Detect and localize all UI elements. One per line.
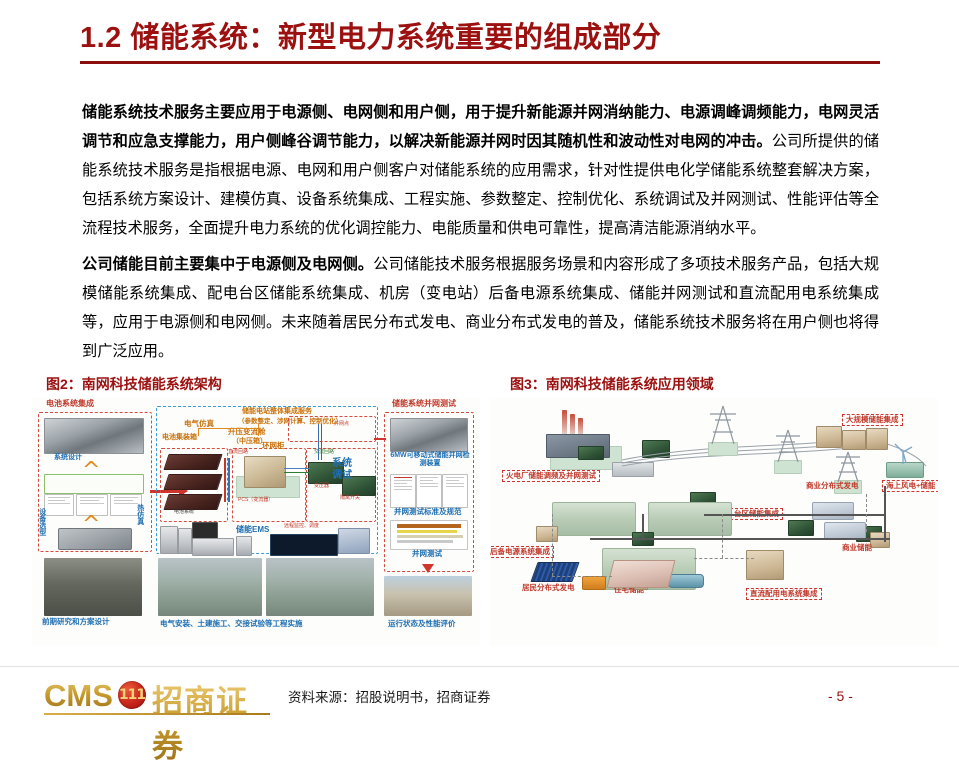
image-ems-server	[192, 538, 234, 556]
image-spec-sheet-1	[44, 494, 74, 516]
title-underline	[80, 61, 880, 64]
body-copy: 储能系统技术服务主要应用于电源侧、电网侧和用户侧，用于提升新能源并网消纳能力、电…	[82, 98, 879, 373]
label-early-research: 前期研究和方案设计	[42, 618, 110, 626]
label-test-standard: 并网测试标准及规范	[394, 508, 462, 516]
image-backup-cabinet	[536, 526, 558, 542]
figure2-caption: 图2：南网科技储能系统架构	[46, 374, 222, 394]
label-resident-dist: 居民分布式发电	[522, 584, 575, 592]
grid-dash-h1	[552, 576, 612, 577]
label-mobile-device: 6MW可移动式储能并网检测装置	[390, 452, 470, 467]
page-number: - 5 -	[828, 688, 853, 704]
image-control-room-wall	[270, 534, 338, 556]
image-battery-room-photo	[44, 558, 142, 616]
label-electrical-simulation: 电气仿真	[184, 420, 214, 428]
figure2-storage-architecture: 电池系统集成 系统设计 ^ 设备选型 ^ 热仿真 前期研究和方案设计 储能电站整…	[32, 398, 480, 646]
label-grid-test: 并网测试	[412, 550, 442, 558]
label-pcs: PCS（变流器）	[238, 498, 273, 504]
source-note: 资料来源：招股说明书，招商证券	[288, 686, 491, 706]
image-standard-doc-2	[416, 474, 442, 508]
logo-badge-icon: 111	[118, 681, 146, 709]
tower-icon-1	[706, 404, 740, 448]
label-system-debug-2: 调试	[332, 470, 352, 481]
logo-underline	[44, 713, 270, 715]
title-block: 1.2 储能系统：新型电力系统重要的组成部分	[80, 22, 880, 64]
connector-to-grid-2	[321, 424, 322, 460]
image-standard-doc-1	[390, 474, 416, 508]
image-large-storage-b	[842, 430, 866, 450]
grid-line-h2	[590, 538, 890, 540]
label-boost-converter: 升压变流舱	[228, 428, 266, 436]
image-village-block-1	[552, 502, 636, 536]
image-electric-vehicle	[668, 574, 704, 588]
tower-icon-2	[772, 428, 804, 466]
image-standard-doc-3	[442, 474, 468, 508]
image-battery-rack	[44, 418, 144, 454]
image-large-storage-a	[816, 426, 842, 448]
connector-dc-bus	[224, 458, 226, 502]
grid-dash-v1	[552, 514, 553, 576]
image-ems-cabinet-3	[236, 536, 252, 556]
image-battery-rack-c	[163, 494, 222, 510]
paragraph-1: 储能系统技术服务主要应用于电源侧、电网侧和用户侧，用于提升新能源并网消纳能力、电…	[82, 98, 879, 243]
label-commercial-storage: 商业储能	[842, 544, 872, 552]
figure3-caption: 图3：南网科技储能系统应用领域	[510, 374, 714, 394]
connector-to-grid-1	[318, 424, 319, 460]
image-bms-controller	[58, 528, 132, 550]
image-district-transformer-2	[788, 520, 814, 536]
label-dc-system: 直流配用电系统集成	[746, 588, 822, 600]
image-dc-facility	[607, 560, 676, 588]
image-solar-array	[530, 562, 579, 582]
image-site-photo-1	[158, 558, 262, 616]
logo-chinese-text: 招商证券	[152, 676, 270, 766]
connector-middle-to-right	[374, 438, 386, 440]
image-village-block-2	[648, 502, 732, 536]
label-backup-power: 后备电源系统集成	[490, 546, 554, 558]
label-thermal-plant: 火电厂储能调频及并网测试	[502, 470, 600, 482]
label-storage-ems: 储能EMS	[236, 526, 269, 535]
arrow-down-icon-1	[422, 564, 434, 573]
label-battery-container: 电池集装箱	[162, 434, 197, 442]
image-boost-converter-cabin	[244, 456, 286, 488]
label-hv-switch: 隔离开关	[340, 496, 360, 502]
label-ring-cabinet: 环网柜	[262, 442, 285, 450]
image-pcb-layout	[44, 474, 144, 494]
grid-line-v2	[642, 514, 644, 540]
grid-dash-v2	[722, 514, 723, 558]
label-remote-monitor: 远程监控、调度	[284, 524, 319, 530]
image-commercial-storage-unit	[870, 532, 890, 548]
label-commercial-dist: 商业分布式发电	[806, 482, 859, 490]
logo-latin-text: CMS	[44, 678, 113, 714]
label-grid-point: 并网点	[334, 422, 349, 428]
paragraph-2: 公司储能目前主要集中于电源侧及电网侧。公司储能技术服务根据服务场景和内容形成了多…	[82, 250, 879, 366]
paragraph-2-lead: 公司储能目前主要集中于电源侧及电网侧。	[82, 256, 373, 273]
image-mobile-test-device	[390, 418, 468, 452]
label-large-scale: 大规模储能集成	[842, 414, 903, 426]
label-station-integration: 储能电站整体集成服务	[242, 408, 312, 416]
wind-turbine-icon	[890, 440, 916, 466]
label-equipment-selection: 设备选型	[38, 508, 46, 536]
image-site-photo-2	[266, 558, 374, 616]
label-offshore-wind: 海上风电+储能	[882, 480, 938, 492]
image-plant-storage-unit	[578, 446, 604, 460]
image-commercial-building-1	[812, 502, 854, 520]
slide-root: 1.2 储能系统：新型电力系统重要的组成部分 储能系统技术服务主要应用于电源侧、…	[0, 0, 959, 719]
label-grid-test-title: 储能系统并网测试	[392, 400, 456, 409]
image-dc-building	[746, 550, 784, 580]
image-large-storage-c	[866, 428, 888, 450]
label-engineering: 电气安装、土建施工、交接试验等工程实施	[160, 620, 303, 628]
image-field-test-photo	[384, 576, 472, 616]
label-system-design: 系统设计	[54, 454, 82, 462]
connector-ac-2	[284, 472, 310, 473]
connector-sim-bus	[198, 428, 258, 429]
grid-dash-v3	[866, 494, 867, 532]
image-test-waveform	[390, 520, 468, 550]
label-operation-eval: 运行状态及性能评价	[388, 620, 456, 628]
logo-badge-text: 111	[118, 681, 146, 709]
label-system-debug-1: 系统	[332, 458, 352, 469]
grid-dash-h2	[694, 558, 754, 559]
image-operator-console	[338, 528, 370, 554]
region-grid-point	[288, 416, 376, 442]
label-battery-integration: 电池系统集成	[46, 400, 94, 409]
connector-dc-bus-neg	[228, 458, 230, 502]
image-home-inverter	[582, 576, 606, 590]
figure3-application-domains: 火电厂储能调频及并网测试 大规模储能集成	[490, 398, 938, 646]
image-ems-cabinet-1	[160, 526, 178, 554]
page-title: 1.2 储能系统：新型电力系统重要的组成部分	[80, 22, 880, 55]
image-ems-cabinet-2	[178, 528, 192, 554]
image-battery-rack-a	[163, 454, 222, 470]
footer-divider	[0, 666, 959, 667]
image-battery-rack-b	[163, 474, 222, 490]
connector-ac-1	[284, 468, 310, 469]
paragraph-1-lead: 储能系统技术服务主要应用于电源侧、电网侧和用户侧，用于提升新能源并网消纳能力、电…	[82, 104, 879, 150]
label-battery-stack: 电池系统	[174, 510, 194, 516]
grid-line-v1	[884, 486, 886, 542]
connector-sim-drop-1	[198, 428, 199, 436]
cms-logo: CMS 111 招商证券	[44, 676, 270, 716]
grid-line-h1	[704, 514, 884, 516]
label-thermal-simulation: 热仿真	[136, 504, 144, 525]
connector-sim-drop-2	[258, 424, 259, 436]
